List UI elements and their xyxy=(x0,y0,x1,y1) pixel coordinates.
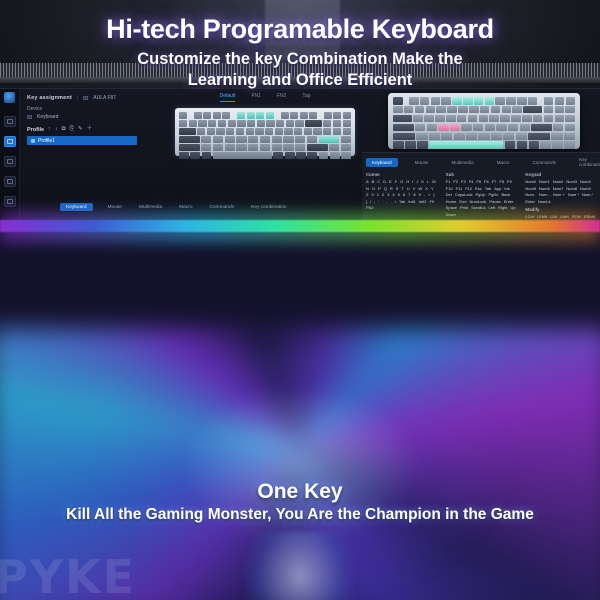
assignable-key[interactable]: 6 xyxy=(403,192,405,197)
assignable-key[interactable]: O xyxy=(372,186,375,191)
key-list-common: ABCDEFGHIJKLMNOPQRSTUVWXYZ0123456789-=[]… xyxy=(366,179,437,210)
layer-tab-tap[interactable]: Tap xyxy=(302,93,310,102)
hero-text-block: One Key Kill All the Gaming Monster, You… xyxy=(0,480,600,524)
assignable-key[interactable]: K xyxy=(421,179,424,184)
top-subtitle-line-2: Learning and Office Efficient xyxy=(0,70,600,91)
assignable-key[interactable]: Z xyxy=(366,192,368,197)
assignable-key[interactable]: M xyxy=(432,179,435,184)
assignable-key[interactable]: W xyxy=(418,186,422,191)
assignable-key[interactable]: App xyxy=(494,186,501,191)
assignable-key[interactable]: ' xyxy=(378,199,379,204)
assignable-key[interactable]: Esc xyxy=(475,186,482,191)
app-logo-icon xyxy=(4,92,15,103)
header-separator: | xyxy=(77,95,78,101)
tab-keyboard[interactable]: Keyboard xyxy=(60,203,93,211)
key-assignment-label: Key assignment xyxy=(27,95,72,101)
assignable-key[interactable]: Num * xyxy=(568,192,579,197)
device-value-label: Keyboard xyxy=(37,114,58,120)
assignable-key[interactable]: 8 xyxy=(413,192,415,197)
assignable-key[interactable]: \ xyxy=(370,199,371,204)
assignable-key[interactable]: Right xyxy=(498,205,507,210)
assignable-key[interactable]: 3 xyxy=(387,192,389,197)
keyboard-layout-diagram[interactable] xyxy=(175,108,355,156)
profile-rename-icon[interactable]: ✎ xyxy=(78,127,83,133)
key-assignment-panel: Keyboard Mouse Multimedia Macro Commands… xyxy=(362,152,600,220)
hero-subtitle: Kill All the Gaming Monster, You Are the… xyxy=(0,506,600,524)
column-title-sub: Sub xyxy=(446,172,517,177)
assignable-key[interactable]: F2 xyxy=(453,179,458,184)
software-keyboard-pane: Default FN1 FN2 Tap xyxy=(160,89,370,220)
assignable-key[interactable]: F9 xyxy=(429,199,434,204)
assignable-key[interactable]: PgUp xyxy=(475,192,485,197)
assignable-key[interactable]: / xyxy=(395,199,396,204)
tab-multimedia[interactable]: Multimedia xyxy=(137,203,164,211)
tab-commands[interactable]: Commands xyxy=(207,203,236,211)
assignable-key[interactable]: Num / xyxy=(582,192,593,197)
assignable-key[interactable]: Del xyxy=(446,192,452,197)
tab-key-combination[interactable]: Key combination xyxy=(249,203,288,211)
assignable-key[interactable]: CapsLock xyxy=(455,192,473,197)
layer-tab-fn2[interactable]: FN2 xyxy=(277,93,286,102)
key-assignment-header: Key assignment | AULA F87 xyxy=(27,95,154,101)
top-headline-block: Hi-tech Programable Keyboard Customize t… xyxy=(0,14,600,91)
assignable-key[interactable]: F6 xyxy=(484,179,489,184)
profile-delete-icon[interactable]: ⎘ xyxy=(70,127,74,133)
assignable-key[interactable]: F1 xyxy=(446,179,451,184)
assign-tab-keyboard[interactable]: Keyboard xyxy=(366,158,398,167)
layer-tab-bar: Default FN1 FN2 Tap xyxy=(160,93,370,102)
column-title-modify: Modify xyxy=(525,207,596,212)
lighting-icon[interactable] xyxy=(4,156,16,167)
assignable-key[interactable]: A xyxy=(366,179,369,184)
column-title-common: Comm xyxy=(366,172,437,177)
assignable-key[interactable]: Pause xyxy=(489,199,500,204)
assignable-key[interactable]: = xyxy=(428,192,430,197)
profile-label: Profile xyxy=(27,127,44,133)
assignable-key[interactable]: F xyxy=(395,179,397,184)
assignable-key[interactable]: F11 xyxy=(456,186,463,191)
assignable-key[interactable]: Num6 xyxy=(539,186,550,191)
assignable-key[interactable]: T xyxy=(401,186,403,191)
software-bottom-tab-bar: Keyboard Mouse Multimedia Macro Commands… xyxy=(60,203,310,211)
profile-item-icon xyxy=(31,139,35,143)
software-left-pane: Key assignment | AULA F87 Device Keyboar… xyxy=(20,89,160,220)
assignable-key[interactable]: Intl1 xyxy=(408,199,416,204)
assign-tab-macro[interactable]: Macro xyxy=(491,158,516,167)
macro-icon[interactable] xyxy=(4,176,16,187)
assignable-key[interactable]: 7 xyxy=(408,192,410,197)
assignable-key[interactable]: F5 xyxy=(476,179,481,184)
assignable-key[interactable]: U xyxy=(407,186,410,191)
assignable-key[interactable]: H xyxy=(406,179,409,184)
connection-icon[interactable] xyxy=(4,116,16,127)
assignable-key[interactable]: S xyxy=(396,186,399,191)
top-subtitle-line-1: Customize the key Combination Make the xyxy=(0,49,600,70)
keyboard-icon[interactable] xyxy=(4,136,16,147)
device-thumb-icon xyxy=(83,96,88,100)
profile-list-item-selected[interactable]: Profile1 xyxy=(27,136,137,145)
assignable-key[interactable]: 5 xyxy=(398,192,400,197)
assignable-key[interactable]: - xyxy=(424,192,425,197)
assignable-key[interactable]: . xyxy=(391,199,392,204)
assignable-key[interactable]: B xyxy=(372,179,375,184)
assignable-key[interactable]: Num3 xyxy=(566,179,577,184)
assignable-key[interactable]: Q xyxy=(384,186,387,191)
assignable-key[interactable]: Num - xyxy=(539,192,550,197)
tab-mouse[interactable]: Mouse xyxy=(106,203,124,211)
assignable-key[interactable]: 1 xyxy=(377,192,379,197)
assignable-key[interactable]: Home xyxy=(446,199,457,204)
assignable-key[interactable]: J xyxy=(416,179,418,184)
keyboard-device-icon xyxy=(27,115,32,119)
layer-tab-default[interactable]: Default xyxy=(220,93,236,102)
keyboard-product-photo xyxy=(388,93,580,149)
assignable-key[interactable]: FN2 xyxy=(366,205,374,210)
assignable-key[interactable]: Tab xyxy=(485,186,491,191)
assignable-key[interactable]: G xyxy=(400,179,403,184)
assignable-key[interactable]: V xyxy=(413,186,416,191)
rgb-divider-strip xyxy=(0,220,600,232)
assignable-key[interactable]: 2 xyxy=(382,192,384,197)
settings-gear-icon[interactable] xyxy=(4,196,16,207)
assignable-key[interactable]: ` xyxy=(382,199,383,204)
assignment-tab-bar: Keyboard Mouse Multimedia Macro Commands… xyxy=(366,155,596,169)
assignable-key[interactable]: PgDn xyxy=(489,192,499,197)
assignable-key[interactable]: L xyxy=(427,179,429,184)
assignable-key[interactable]: ] xyxy=(366,199,367,204)
assignable-key[interactable]: 4 xyxy=(392,192,394,197)
assignable-key[interactable]: Tab xyxy=(399,199,405,204)
assign-tab-commands[interactable]: Commands xyxy=(526,158,562,167)
assignable-key[interactable]: E xyxy=(389,179,392,184)
device-model-label: AULA F87 xyxy=(93,95,116,101)
key-list-keypad: Num0Num1Num2Num3Num4Num5Num6Num7Num8Num9… xyxy=(525,179,596,204)
assignable-key[interactable]: [ xyxy=(433,192,434,197)
assignable-key[interactable]: Space xyxy=(446,205,457,210)
assignable-key[interactable]: X xyxy=(425,186,428,191)
assignable-key[interactable]: Num9 xyxy=(580,186,591,191)
assignable-key[interactable]: Left xyxy=(488,205,495,210)
device-section-label: Device xyxy=(27,106,154,112)
assignable-key[interactable]: Num1 xyxy=(539,179,550,184)
assignable-key[interactable]: F10 xyxy=(446,186,453,191)
assignable-key[interactable]: Up xyxy=(511,205,516,210)
assignable-key[interactable]: F3 xyxy=(461,179,466,184)
assign-tab-key-combination[interactable]: Key combination xyxy=(573,155,600,169)
assignable-key[interactable]: Enter xyxy=(504,199,514,204)
assignable-key[interactable]: Num0 xyxy=(525,179,536,184)
assignable-key[interactable]: Num7 xyxy=(553,186,564,191)
assignable-key[interactable]: Num4 xyxy=(580,179,591,184)
background-watermark-text: PYKE xyxy=(0,550,136,600)
hero-panel: PYKE One Key Kill All the Gaming Monster… xyxy=(0,232,600,600)
tab-macro[interactable]: Macro xyxy=(177,203,194,211)
assignable-key[interactable]: 0 xyxy=(371,192,373,197)
assignable-key[interactable]: Num2 xyxy=(553,179,564,184)
assignable-key[interactable]: Num8 xyxy=(566,186,577,191)
assignable-key[interactable]: R xyxy=(390,186,393,191)
assignable-key[interactable]: F12 xyxy=(465,186,472,191)
assign-tab-multimedia[interactable]: Multimedia xyxy=(445,158,479,167)
profile-copy-icon[interactable]: ⧉ xyxy=(62,127,66,133)
assignable-key[interactable]: Back xyxy=(502,192,511,197)
assignable-key[interactable]: F8 xyxy=(499,179,504,184)
assignable-key[interactable]: P xyxy=(378,186,381,191)
assignable-key[interactable]: Num5 xyxy=(525,186,536,191)
assignable-key[interactable]: Y xyxy=(431,186,434,191)
game-character-silhouette xyxy=(245,532,355,600)
assignable-key[interactable]: Ins xyxy=(504,186,509,191)
assignable-key[interactable]: Print xyxy=(460,205,468,210)
assignable-key[interactable]: F9 xyxy=(507,179,512,184)
assignable-key[interactable]: , xyxy=(386,199,387,204)
assignable-key[interactable]: Enter xyxy=(525,199,535,204)
assignable-key[interactable]: NumLock xyxy=(469,199,486,204)
assignable-key[interactable]: End xyxy=(459,199,466,204)
assignable-key[interactable]: D xyxy=(383,179,386,184)
device-value-row[interactable]: Keyboard xyxy=(27,113,154,120)
assignable-key[interactable]: ; xyxy=(374,199,375,204)
layer-tab-fn1[interactable]: FN1 xyxy=(251,93,260,102)
assignable-key[interactable]: 9 xyxy=(419,192,421,197)
assignable-key[interactable]: F4 xyxy=(469,179,474,184)
software-sidebar-rail xyxy=(0,89,20,220)
profile-export-icon[interactable]: ↓ xyxy=(55,127,58,133)
assignable-key[interactable]: I xyxy=(412,179,413,184)
assignable-key[interactable]: Num + xyxy=(553,192,565,197)
top-promo-panel: Hi-tech Programable Keyboard Customize t… xyxy=(0,0,600,232)
profile-toolbar: Profile ↑ ↓ ⧉ ⎘ ✎ ＋ xyxy=(27,127,154,133)
assignable-key[interactable]: ScrollLk xyxy=(471,205,485,210)
column-title-keypad: Keypad xyxy=(525,172,596,177)
profile-item-label: Profile1 xyxy=(38,138,55,144)
assignable-key[interactable]: NumLk xyxy=(538,199,551,204)
assignable-key[interactable]: C xyxy=(377,179,380,184)
assignable-key[interactable]: N xyxy=(366,186,369,191)
profile-add-icon[interactable]: ＋ xyxy=(87,127,93,133)
profile-import-icon[interactable]: ↑ xyxy=(48,127,51,133)
assignable-key[interactable]: F7 xyxy=(492,179,497,184)
hero-title: One Key xyxy=(0,480,600,504)
assign-tab-mouse[interactable]: Mouse xyxy=(409,158,435,167)
assignable-key[interactable]: Intl2 xyxy=(419,199,427,204)
assignable-key[interactable]: Num . xyxy=(525,192,536,197)
key-list-sub: F1F2F3F4F5F6F7F8F9F10F11F12EscTabAppInsD… xyxy=(446,179,517,217)
page-title: Hi-tech Programable Keyboard xyxy=(0,14,600,45)
